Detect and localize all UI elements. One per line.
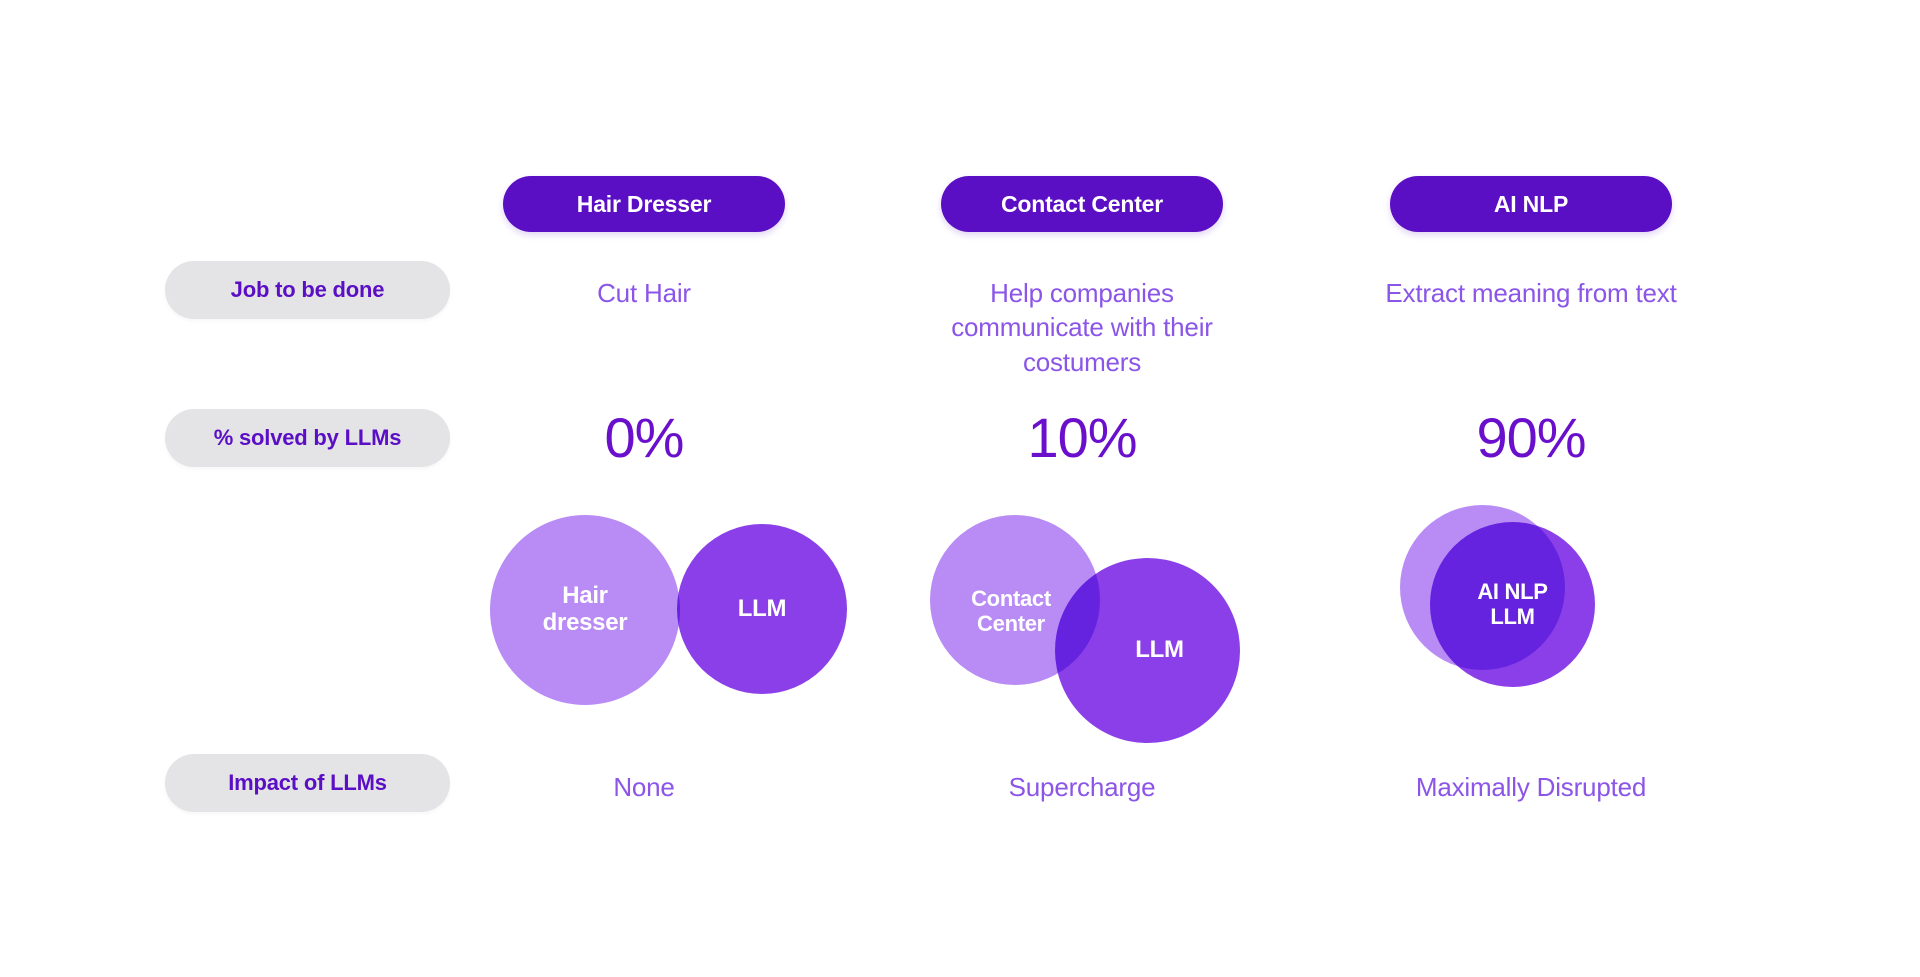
venn-circle-llm <box>677 524 847 694</box>
row-label-percent-solved: % solved by LLMs <box>165 409 450 467</box>
venn-diagram-ai-nlp: AI NLP LLM <box>1400 505 1650 705</box>
column-header-contact-center: Contact Center <box>941 176 1223 232</box>
impact-value-ai-nlp: Maximally Disrupted <box>1331 772 1731 803</box>
column-header-label: AI NLP <box>1494 191 1568 218</box>
venn-diagram-hair-dresser: Hair dresser LLM <box>490 515 820 705</box>
column-header-label: Contact Center <box>1001 191 1163 218</box>
column-header-label: Hair Dresser <box>577 191 711 218</box>
row-label-solved-text: % solved by LLMs <box>214 425 402 451</box>
infographic-board: Job to be done % solved by LLMs Impact o… <box>0 0 1920 977</box>
job-description-contact-center: Help companies communicate with their co… <box>932 276 1232 379</box>
venn-circle-job <box>490 515 680 705</box>
venn-circle-llm <box>1430 522 1595 687</box>
job-description-ai-nlp-text: Extract meaning from text <box>1385 278 1676 308</box>
job-description-hair-dresser: Cut Hair <box>494 276 794 310</box>
row-label-impact-text: Impact of LLMs <box>228 770 387 796</box>
job-description-ai-nlp: Extract meaning from text <box>1381 276 1681 310</box>
venn-circle-llm <box>1055 558 1240 743</box>
row-label-job-to-be-done: Job to be done <box>165 261 450 319</box>
column-header-hair-dresser: Hair Dresser <box>503 176 785 232</box>
row-label-job-text: Job to be done <box>231 277 385 303</box>
percent-solved-contact-center: 10% <box>932 410 1232 466</box>
row-label-impact: Impact of LLMs <box>165 754 450 812</box>
percent-solved-hair-dresser: 0% <box>494 410 794 466</box>
impact-value-hair-dresser: None <box>494 772 794 803</box>
impact-value-contact-center: Supercharge <box>932 772 1232 803</box>
percent-solved-ai-nlp: 90% <box>1381 410 1681 466</box>
venn-diagram-contact-center: Contact Center LLM <box>930 515 1260 715</box>
column-header-ai-nlp: AI NLP <box>1390 176 1672 232</box>
